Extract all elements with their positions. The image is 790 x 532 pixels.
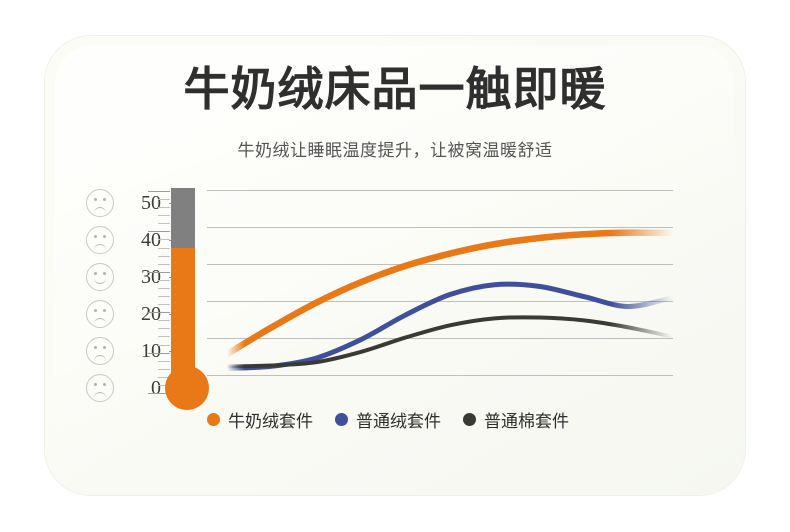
legend-label: 普通绒套件 [356, 407, 441, 432]
chart-line-3 [227, 317, 673, 366]
thermometer-bulb [165, 366, 209, 410]
legend-item-regular-cotton[interactable]: 普通棉套件 [463, 407, 569, 432]
legend-item-milk-velvet[interactable]: 牛奶绒套件 [207, 407, 313, 432]
page-title: 牛奶绒床品一触即暖 [0, 60, 790, 118]
line-chart [207, 190, 673, 395]
legend-color-dot [463, 413, 476, 426]
sad-face-icon [86, 337, 114, 365]
happy-face-icon [86, 263, 114, 291]
thermometer [165, 188, 201, 448]
sad-face-icon [86, 374, 114, 402]
chart-svg [207, 190, 673, 395]
legend-color-dot [335, 413, 348, 426]
sad-face-icon [86, 189, 114, 217]
legend-color-dot [207, 413, 220, 426]
sad-face-icon [86, 300, 114, 328]
sad-face-icon [86, 226, 114, 254]
chart-legend: 牛奶绒套件 普通绒套件 普通棉套件 [207, 406, 673, 432]
page-subtitle: 牛奶绒让睡眠温度提升，让被窝温暖舒适 [0, 139, 790, 163]
legend-label: 牛奶绒套件 [228, 407, 313, 432]
poster-stage: 牛奶绒床品一触即暖 牛奶绒让睡眠温度提升，让被窝温暖舒适 50 40 30 20… [0, 0, 790, 532]
legend-label: 普通棉套件 [484, 407, 569, 432]
legend-item-regular-velvet[interactable]: 普通绒套件 [335, 407, 441, 432]
